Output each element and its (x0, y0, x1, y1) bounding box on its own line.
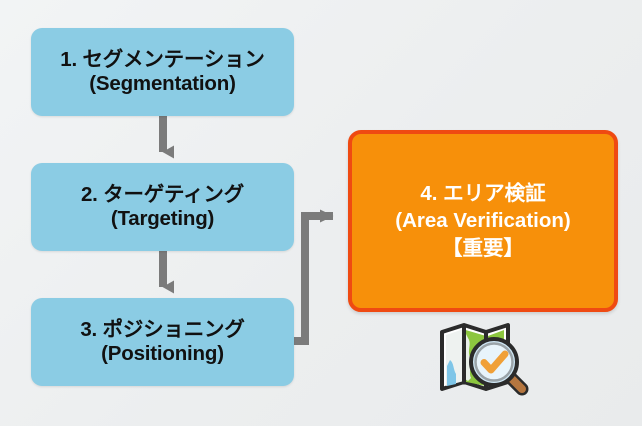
node-area-verification-line2: (Area Verification) (395, 207, 570, 234)
node-area-verification-line3: 【重要】 (442, 235, 524, 262)
node-positioning[interactable]: 3. ポジショニング (Positioning) (31, 298, 294, 386)
node-positioning-line1: 3. ポジショニング (80, 318, 244, 342)
diagram-canvas: 1. セグメンテーション (Segmentation) 2. ターゲティング (… (0, 0, 642, 426)
node-targeting-line2: (Targeting) (111, 207, 214, 231)
map-magnifier-check-icon (434, 316, 530, 404)
node-positioning-line2: (Positioning) (101, 342, 224, 366)
node-targeting-line1: 2. ターゲティング (81, 183, 244, 207)
node-segmentation-line2: (Segmentation) (89, 72, 235, 96)
node-area-verification[interactable]: 4. エリア検証 (Area Verification) 【重要】 (348, 130, 618, 312)
node-targeting[interactable]: 2. ターゲティング (Targeting) (31, 163, 294, 251)
node-area-verification-line1: 4. エリア検証 (420, 180, 545, 207)
edge-positioning-to-area-verification (294, 216, 333, 341)
node-segmentation-line1: 1. セグメンテーション (60, 48, 264, 72)
node-segmentation[interactable]: 1. セグメンテーション (Segmentation) (31, 28, 294, 116)
